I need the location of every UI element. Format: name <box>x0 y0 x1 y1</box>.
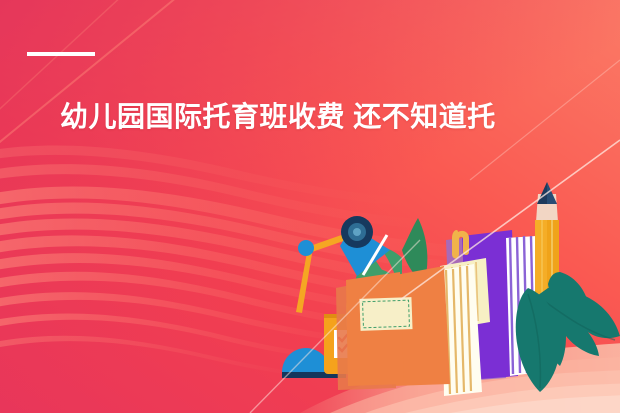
streak-line <box>250 240 420 413</box>
page-title: 幼儿园国际托育班收费 还不知道托 <box>60 100 608 134</box>
promo-banner: 幼儿园国际托育班收费 还不知道托 <box>0 0 620 413</box>
diagonal-streaks <box>0 0 620 413</box>
accent-rule <box>27 52 95 56</box>
streak-line <box>400 140 620 300</box>
